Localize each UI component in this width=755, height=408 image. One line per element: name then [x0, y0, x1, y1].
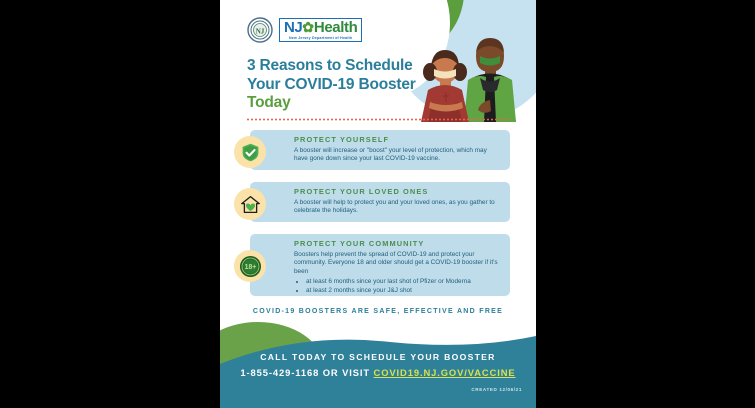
- nj-health-wordmark: NJ ✿ Health New Jersey Department of Hea…: [279, 18, 362, 42]
- or-visit-text: OR VISIT: [319, 367, 373, 378]
- card-text: Boosters help prevent the spread of COVI…: [294, 251, 502, 277]
- reason-card-protect-yourself: PROTECT YOURSELF A booster will increase…: [250, 130, 510, 170]
- reason-card-protect-community: 18+ PROTECT YOUR COMMUNITY Boosters help…: [250, 234, 510, 296]
- card-bullet-list: at least 6 months since your last shot o…: [294, 277, 502, 295]
- page-title: 3 Reasons to Schedule Your COVID-19 Boos…: [247, 57, 416, 113]
- list-item: at least 2 months since your J&J shot: [306, 286, 502, 295]
- masked-people-illustration: [402, 16, 530, 122]
- headline-line-2: Your COVID-19 Booster: [247, 76, 416, 95]
- reason-card-protect-loved-ones: PROTECT YOUR LOVED ONES A booster will h…: [250, 182, 510, 222]
- shield-check-icon: [234, 136, 266, 168]
- logo-subtitle: New Jersey Department of Health: [289, 36, 352, 40]
- vaccine-url-link[interactable]: COVID19.NJ.GOV/VACCINE: [374, 367, 516, 378]
- home-heart-icon: [234, 188, 266, 220]
- card-title: PROTECT YOURSELF: [294, 135, 502, 144]
- footer-call-to-action: CALL TODAY TO SCHEDULE YOUR BOOSTER: [220, 352, 536, 362]
- footer-contact-block: CALL TODAY TO SCHEDULE YOUR BOOSTER 1-85…: [220, 352, 536, 378]
- covid-booster-poster: NJ NJ ✿ Health New Jersey Department of …: [220, 0, 536, 408]
- badge-label: 18+: [244, 264, 256, 271]
- created-date: CREATED 12/06/21: [471, 387, 522, 392]
- headline-line-1: 3 Reasons to Schedule: [247, 57, 416, 76]
- card-text: A booster will help to protect you and y…: [294, 199, 502, 216]
- card-title: PROTECT YOUR COMMUNITY: [294, 239, 502, 248]
- logo-health-text: Health: [314, 20, 357, 35]
- new-jersey-state-seal-icon: NJ: [247, 17, 273, 43]
- screenshot-stage: NJ NJ ✿ Health New Jersey Department of …: [0, 0, 755, 408]
- leaf-icon: ✿: [302, 20, 314, 34]
- card-title: PROTECT YOUR LOVED ONES: [294, 187, 502, 196]
- eighteen-plus-badge-icon: 18+: [234, 250, 266, 282]
- card-text: A booster will increase or "boost" your …: [294, 147, 502, 164]
- headline-line-3: Today: [247, 94, 416, 113]
- logo-nj-text: NJ: [284, 20, 302, 35]
- nj-health-logo: NJ NJ ✿ Health New Jersey Department of …: [247, 17, 362, 43]
- safety-tagline: COVID-19 BOOSTERS ARE SAFE, EFFECTIVE AN…: [220, 308, 536, 315]
- phone-number[interactable]: 1-855-429-1168: [240, 367, 319, 378]
- footer-phone-line: 1-855-429-1168 OR VISIT COVID19.NJ.GOV/V…: [220, 367, 536, 378]
- svg-text:NJ: NJ: [256, 28, 265, 36]
- dotted-divider: [246, 118, 510, 121]
- list-item: at least 6 months since your last shot o…: [306, 277, 502, 286]
